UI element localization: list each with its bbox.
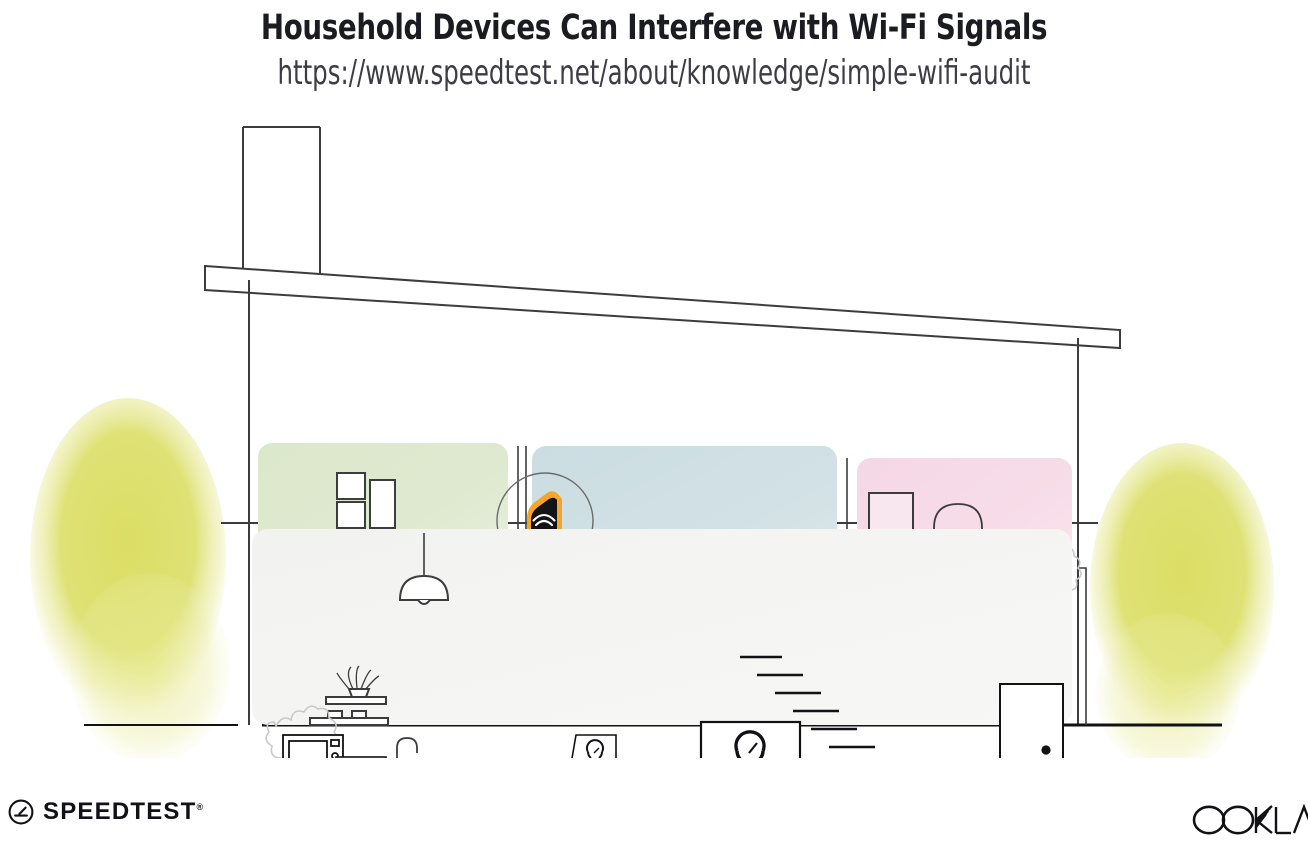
speedtest-wordmark: SPEEDTEST® bbox=[43, 798, 203, 826]
footer: SPEEDTEST® bbox=[0, 780, 1308, 850]
header: Household Devices Can Interfere with Wi-… bbox=[0, 0, 1308, 93]
foliage-right bbox=[1090, 443, 1274, 758]
television[interactable]: SPEEDTEST bbox=[701, 722, 800, 758]
dining-area: SPEEDTEST bbox=[448, 735, 652, 758]
microwave bbox=[283, 735, 343, 758]
ookla-logo bbox=[1190, 802, 1308, 843]
source-url: https://www.speedtest.net/about/knowledg… bbox=[131, 48, 1177, 93]
ookla-wordmark bbox=[1190, 802, 1308, 838]
house-cutaway-illustration: SPEEDTEST bbox=[0, 108, 1308, 758]
speedtest-logo: SPEEDTEST® bbox=[8, 798, 203, 826]
living-room: SPEEDTEST bbox=[664, 722, 871, 758]
registered-mark: ® bbox=[197, 802, 204, 812]
laptop[interactable]: SPEEDTEST bbox=[566, 735, 622, 758]
page-title: Household Devices Can Interfere with Wi-… bbox=[78, 0, 1229, 48]
sink-faucet bbox=[397, 738, 417, 758]
speedtest-gauge-icon bbox=[8, 799, 34, 825]
chimney bbox=[243, 127, 320, 280]
speedtest-wordmark-text: SPEEDTEST bbox=[43, 798, 197, 825]
infographic-canvas: Household Devices Can Interfere with Wi-… bbox=[0, 0, 1308, 861]
foliage-left bbox=[30, 398, 230, 758]
roof bbox=[205, 266, 1120, 348]
